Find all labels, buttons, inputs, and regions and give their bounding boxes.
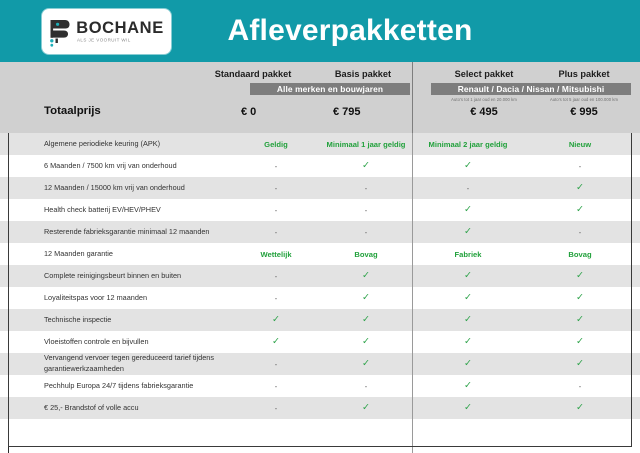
group-divider-top <box>412 62 413 137</box>
check-icon: ✓ <box>362 314 370 325</box>
cell-basis-pakket: - <box>320 206 412 215</box>
afleverpakketten-page: BOCHANE ALS JE VOORUIT WIL Afleverpakket… <box>0 0 640 453</box>
dash-marker: - <box>365 382 368 391</box>
cell-plus-pakket: ✓ <box>524 359 636 369</box>
dash-marker: - <box>275 184 278 193</box>
price-plus: € 995 <box>534 106 634 118</box>
cell-standaard-pakket: - <box>232 206 320 215</box>
cell-basis-pakket: ✓ <box>320 315 412 325</box>
dash-marker: - <box>275 206 278 215</box>
dash-marker: - <box>275 294 278 303</box>
cell-standaard-pakket: - <box>232 382 320 391</box>
table-row: Complete reinigingsbeurt binnen en buite… <box>0 265 640 287</box>
cell-plus-pakket: ✓ <box>524 403 636 413</box>
cell-plus-pakket: - <box>524 162 636 171</box>
cell-basis-pakket: Minimaal 1 jaar geldig <box>320 140 412 149</box>
dash-marker: - <box>467 184 470 193</box>
dash-marker: - <box>579 162 582 171</box>
row-label: Vloeistoffen controle en bijvullen <box>0 337 232 348</box>
dash-marker: - <box>275 272 278 281</box>
page-header: BOCHANE ALS JE VOORUIT WIL Afleverpakket… <box>0 0 640 62</box>
check-icon: ✓ <box>464 270 472 281</box>
check-icon: ✓ <box>576 336 584 347</box>
check-icon: ✓ <box>464 314 472 325</box>
table-row: Technische inspectie✓✓✓✓ <box>0 309 640 331</box>
check-icon: ✓ <box>576 270 584 281</box>
cell-standaard-pakket: ✓ <box>232 315 320 325</box>
check-icon: ✓ <box>576 182 584 193</box>
price-select: € 495 <box>434 106 534 118</box>
table-row: € 25,- Brandstof of volle accu-✓✓✓ <box>0 397 640 419</box>
cell-standaard-pakket: - <box>232 404 320 413</box>
cell-select-pakket: ✓ <box>412 161 524 171</box>
check-icon: ✓ <box>464 160 472 171</box>
table-row: 12 Maanden garantieWettelijkBovagFabriek… <box>0 243 640 265</box>
table-row: Pechhulp Europa 24/7 tijdens fabrieksgar… <box>0 375 640 397</box>
cell-plus-pakket: ✓ <box>524 337 636 347</box>
row-label: Algemene periodieke keuring (APK) <box>0 139 232 150</box>
check-icon: ✓ <box>576 314 584 325</box>
row-label: Complete reinigingsbeurt binnen en buite… <box>0 271 232 282</box>
dash-marker: - <box>275 228 278 237</box>
cell-text: Wettelijk <box>260 250 291 259</box>
check-icon: ✓ <box>362 160 370 171</box>
check-icon: ✓ <box>272 314 280 325</box>
package-name-select: Select pakket <box>434 69 534 79</box>
row-label: Resterende fabrieksgarantie minimaal 12 … <box>0 227 232 238</box>
cell-plus-pakket: ✓ <box>524 315 636 325</box>
cell-basis-pakket: - <box>320 228 412 237</box>
cell-basis-pakket: ✓ <box>320 271 412 281</box>
cell-basis-pakket: ✓ <box>320 403 412 413</box>
cell-select-pakket: ✓ <box>412 359 524 369</box>
features-table: Algemene periodieke keuring (APK)GeldigM… <box>0 133 640 453</box>
dash-marker: - <box>365 184 368 193</box>
table-row: 12 Maanden / 15000 km vrij van onderhoud… <box>0 177 640 199</box>
cell-select-pakket: ✓ <box>412 293 524 303</box>
check-icon: ✓ <box>576 204 584 215</box>
table-row: Resterende fabrieksgarantie minimaal 12 … <box>0 221 640 243</box>
cell-standaard-pakket: - <box>232 272 320 281</box>
cell-basis-pakket: - <box>320 184 412 193</box>
cell-plus-pakket: Nieuw <box>524 140 636 149</box>
check-icon: ✓ <box>362 402 370 413</box>
cell-text: Geldig <box>264 140 288 149</box>
cell-select-pakket: ✓ <box>412 271 524 281</box>
cell-select-pakket: ✓ <box>412 227 524 237</box>
cell-select-pakket: - <box>412 184 524 193</box>
cell-standaard-pakket: - <box>232 360 320 369</box>
cell-basis-pakket: ✓ <box>320 337 412 347</box>
cell-text: Fabriek <box>454 250 481 259</box>
row-label: Vervangend vervoer tegen gereduceerd tar… <box>0 353 232 374</box>
package-note-plus: Auto's tot 5 jaar oud en 100.000 km <box>525 97 640 102</box>
cell-select-pakket: ✓ <box>412 403 524 413</box>
check-icon: ✓ <box>272 336 280 347</box>
check-icon: ✓ <box>362 292 370 303</box>
dash-marker: - <box>275 382 278 391</box>
totaalprijs-label: Totaalprijs <box>44 105 101 117</box>
cell-text: Minimaal 2 jaar geldig <box>429 140 508 149</box>
cell-standaard-pakket: - <box>232 184 320 193</box>
table-row: Vervangend vervoer tegen gereduceerd tar… <box>0 353 640 375</box>
cell-select-pakket: Fabriek <box>412 250 524 259</box>
row-label: Loyaliteitspas voor 12 maanden <box>0 293 232 304</box>
check-icon: ✓ <box>464 402 472 413</box>
row-label: 6 Maanden / 7500 km vrij van onderhoud <box>0 161 232 172</box>
check-icon: ✓ <box>576 402 584 413</box>
cell-standaard-pakket: - <box>232 162 320 171</box>
table-row: Health check batterij EV/HEV/PHEV--✓✓ <box>0 199 640 221</box>
cell-text: Bovag <box>568 250 591 259</box>
check-icon: ✓ <box>464 336 472 347</box>
cell-standaard-pakket: Geldig <box>232 140 320 149</box>
check-icon: ✓ <box>464 380 472 391</box>
table-row: Loyaliteitspas voor 12 maanden-✓✓✓ <box>0 287 640 309</box>
cell-select-pakket: Minimaal 2 jaar geldig <box>412 140 524 149</box>
cell-plus-pakket: ✓ <box>524 183 636 193</box>
group-subtitle-right: Renault / Dacia / Nissan / Mitsubishi <box>431 83 631 95</box>
cell-basis-pakket: ✓ <box>320 293 412 303</box>
row-label: 12 Maanden / 15000 km vrij van onderhoud <box>0 183 232 194</box>
check-icon: ✓ <box>576 292 584 303</box>
cell-select-pakket: ✓ <box>412 337 524 347</box>
cell-select-pakket: ✓ <box>412 205 524 215</box>
cell-basis-pakket: ✓ <box>320 161 412 171</box>
row-label: Pechhulp Europa 24/7 tijdens fabrieksgar… <box>0 381 232 392</box>
pricing-band: Standaard pakket Basis pakket Select pak… <box>0 62 640 133</box>
check-icon: ✓ <box>362 336 370 347</box>
check-icon: ✓ <box>576 358 584 369</box>
table-row: 6 Maanden / 7500 km vrij van onderhoud-✓… <box>0 155 640 177</box>
cell-select-pakket: ✓ <box>412 381 524 391</box>
cell-basis-pakket: - <box>320 382 412 391</box>
cell-plus-pakket: ✓ <box>524 271 636 281</box>
cell-text: Minimaal 1 jaar geldig <box>327 140 406 149</box>
cell-plus-pakket: - <box>524 228 636 237</box>
dash-marker: - <box>365 206 368 215</box>
cell-standaard-pakket: - <box>232 294 320 303</box>
cell-text: Bovag <box>354 250 377 259</box>
cell-plus-pakket: Bovag <box>524 250 636 259</box>
cell-basis-pakket: Bovag <box>320 250 412 259</box>
check-icon: ✓ <box>362 358 370 369</box>
row-label: Technische inspectie <box>0 315 232 326</box>
cell-plus-pakket: ✓ <box>524 205 636 215</box>
dash-marker: - <box>579 228 582 237</box>
row-label: Health check batterij EV/HEV/PHEV <box>0 205 232 216</box>
cell-standaard-pakket: - <box>232 228 320 237</box>
cell-select-pakket: ✓ <box>412 315 524 325</box>
dash-marker: - <box>275 360 278 369</box>
row-label: € 25,- Brandstof of volle accu <box>0 403 232 414</box>
check-icon: ✓ <box>464 204 472 215</box>
table-body: Algemene periodieke keuring (APK)GeldigM… <box>0 133 640 419</box>
cell-plus-pakket: - <box>524 382 636 391</box>
package-name-basis: Basis pakket <box>313 69 413 79</box>
cell-plus-pakket: ✓ <box>524 293 636 303</box>
cell-text: Nieuw <box>569 140 591 149</box>
table-row: Vloeistoffen controle en bijvullen✓✓✓✓ <box>0 331 640 353</box>
package-name-plus: Plus pakket <box>534 69 634 79</box>
price-basis: € 795 <box>315 106 433 118</box>
dash-marker: - <box>275 404 278 413</box>
check-icon: ✓ <box>464 358 472 369</box>
row-label: 12 Maanden garantie <box>0 249 232 260</box>
page-title: Afleverpakketten <box>0 14 640 48</box>
check-icon: ✓ <box>464 292 472 303</box>
dash-marker: - <box>275 162 278 171</box>
check-icon: ✓ <box>362 270 370 281</box>
table-row: Algemene periodieke keuring (APK)GeldigM… <box>0 133 640 155</box>
cell-standaard-pakket: ✓ <box>232 337 320 347</box>
check-icon: ✓ <box>464 226 472 237</box>
group-subtitle-left: Alle merken en bouwjaren <box>250 83 410 95</box>
cell-basis-pakket: ✓ <box>320 359 412 369</box>
cell-standaard-pakket: Wettelijk <box>232 250 320 259</box>
package-name-standaard: Standaard pakket <box>203 69 303 79</box>
dash-marker: - <box>365 228 368 237</box>
dash-marker: - <box>579 382 582 391</box>
